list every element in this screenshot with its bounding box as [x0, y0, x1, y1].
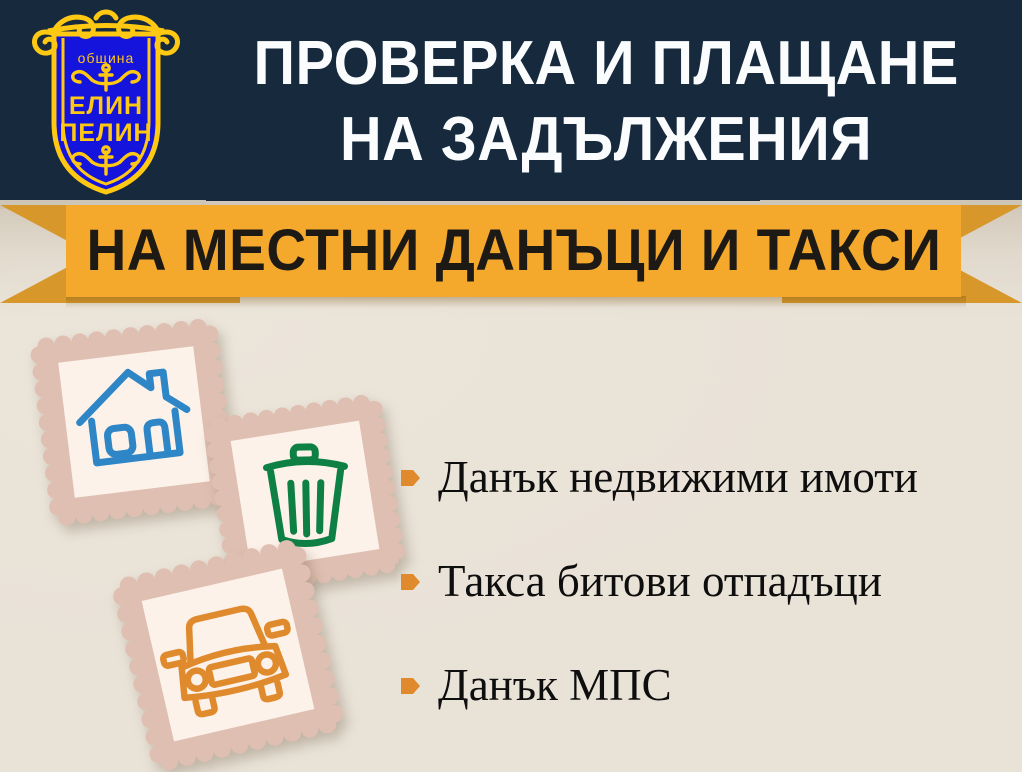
ribbon-banner: НА МЕСТНИ ДАНЪЦИ И ТАКСИ — [0, 200, 1022, 312]
arrow-bullet-icon — [398, 465, 424, 491]
list-item-label: Такса битови отпадъци — [438, 556, 882, 606]
stamp-car — [108, 535, 348, 772]
tax-types-list: Данък недвижими имоти Такса битови отпад… — [398, 425, 1018, 737]
arrow-bullet-icon — [398, 673, 424, 699]
ribbon-panel: НА МЕСТНИ ДАНЪЦИ И ТАКСИ — [66, 205, 961, 297]
poster-root: община ЕЛИН ПЕЛИН — [0, 0, 1022, 772]
ribbon-label: НА МЕСТНИ ДАНЪЦИ И ТАКСИ — [86, 220, 941, 282]
title-line-2: НА ЗАДЪЛЖЕНИЯ — [340, 102, 872, 178]
list-item-label: Данък недвижими имоти — [438, 452, 918, 502]
stamp-car-graphic — [108, 535, 348, 772]
coat-of-arms-icon: община ЕЛИН ПЕЛИН — [22, 4, 190, 196]
coat-of-arms: община ЕЛИН ПЕЛИН — [22, 4, 190, 196]
list-item[interactable]: Данък МПС — [398, 633, 1018, 737]
title-line-1: ПРОВЕРКА И ПЛАЩАНЕ — [253, 26, 958, 102]
crest-line-1: ЕЛИН — [69, 92, 143, 120]
arrow-bullet-icon — [398, 569, 424, 595]
list-item-label: Данък МПС — [438, 660, 672, 710]
list-item[interactable]: Такса битови отпадъци — [398, 529, 1018, 633]
poster-title: ПРОВЕРКА И ПЛАЩАНЕ НА ЗАДЪЛЖЕНИЯ — [196, 16, 1016, 188]
crest-line-2: ПЕЛИН — [59, 119, 152, 147]
header-bar: община ЕЛИН ПЕЛИН — [0, 0, 1022, 201]
list-item[interactable]: Данък недвижими имоти — [398, 425, 1018, 529]
